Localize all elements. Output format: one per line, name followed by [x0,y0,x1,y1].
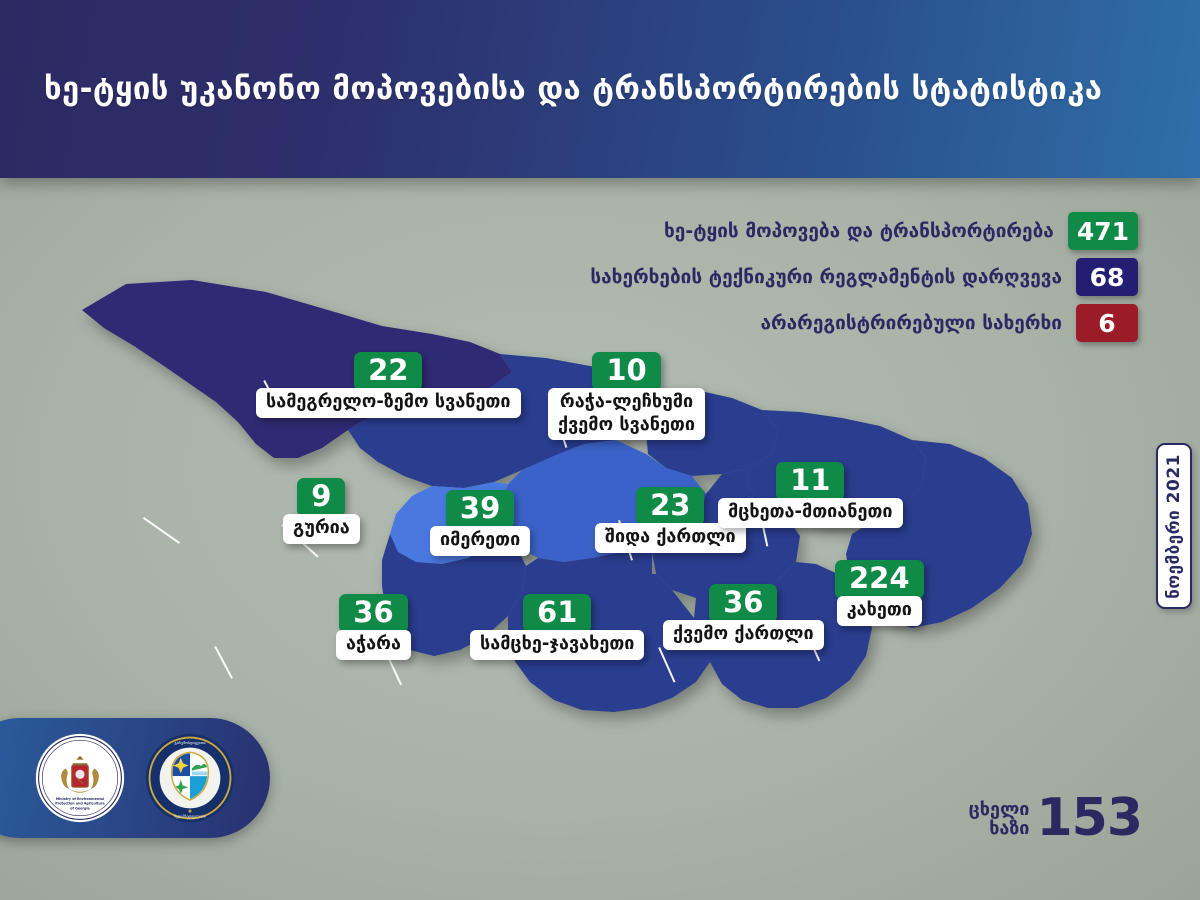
svg-text:of Georgia: of Georgia [70,806,89,810]
hotline-line1: ცხელი [969,800,1030,819]
infographic-canvas: ხე-ტყის უკანონო მოპოვებისა და ტრანსპორტი… [0,0,1200,900]
supervision-department-emblem-icon: გარემოსდაცვითი ზედამხედველობა [144,732,236,824]
marker-label: რაჭა-ლეჩხუმი ქვემო სვანეთი [548,388,705,440]
page-title: ხე-ტყის უკანონო მოპოვებისა და ტრანსპორტი… [44,71,1102,107]
hotline-line2: ხაზი [969,819,1030,838]
map-marker-racha-lechkhumi[interactable]: 10 რაჭა-ლეჩხუმი ქვემო სვანეთი [548,352,705,440]
marker-label: მცხეთა-მთიანეთი [718,498,903,528]
map-marker-adjara[interactable]: 36 აჭარა [336,594,411,660]
legend-row: ხე-ტყის მოპოვება და ტრანსპორტირება 471 [664,212,1138,250]
marker-count: 11 [776,462,844,501]
marker-count: 10 [592,352,660,391]
marker-count: 23 [636,487,704,526]
legend-badge-total: 471 [1068,212,1138,250]
map-marker-samtskhe-javakheti[interactable]: 61 სამცხე-ჯავახეთი [470,594,644,660]
ministry-emblem-icon: Ministry of Environmental Protection and… [34,732,126,824]
legend-badge-total: 68 [1076,258,1138,296]
map-marker-kakheti[interactable]: 224 კახეთი [835,560,924,626]
footer-logo-bar: Ministry of Environmental Protection and… [0,718,270,838]
georgia-region-map [60,262,1070,762]
date-tab: ნოემბერი 2021 [1156,443,1192,609]
marker-count: 39 [446,490,514,529]
hotline-words: ცხელი ხაზი [969,800,1030,838]
map-svg [60,262,1070,762]
marker-count: 36 [709,584,777,623]
marker-label: ქვემო ქართლი [663,620,824,650]
map-marker-mtskheta-mtianeti[interactable]: 11 მცხეთა-მთიანეთი [718,462,903,528]
header-banner: ხე-ტყის უკანონო მოპოვებისა და ტრანსპორტი… [0,0,1200,178]
marker-label: სამეგრელო-ზემო სვანეთი [256,388,521,418]
marker-label: სამცხე-ჯავახეთი [470,630,644,660]
hotline-number: 153 [1036,795,1142,842]
svg-text:გარემოსდაცვითი: გარემოსდაცვითი [174,741,205,745]
marker-count: 224 [835,560,924,599]
svg-text:ზედამხედველობა: ზედამხედველობა [174,815,206,819]
svg-text:Protection and Agriculture: Protection and Agriculture [55,802,105,806]
legend-badge-total: 6 [1076,304,1138,342]
legend-label: ხე-ტყის მოპოვება და ტრანსპორტირება [664,220,1054,242]
marker-count: 22 [354,352,422,391]
map-marker-imereti[interactable]: 39 იმერეთი [430,490,530,556]
marker-label: აჭარა [336,630,411,660]
marker-label: კახეთი [837,596,922,626]
marker-label: იმერეთი [430,526,530,556]
marker-label: გურია [283,514,360,544]
map-marker-kvemo-kartli[interactable]: 36 ქვემო ქართლი [663,584,824,650]
marker-count: 9 [297,478,345,517]
marker-count: 36 [339,594,407,633]
hotline-block: ცხელი ხაზი 153 [969,795,1142,842]
map-marker-samegrelo-zemo-svaneti[interactable]: 22 სამეგრელო-ზემო სვანეთი [256,352,521,418]
marker-count: 61 [523,594,591,633]
date-label: ნოემბერი 2021 [1164,454,1184,599]
map-marker-guria[interactable]: 9 გურია [283,478,360,544]
svg-text:Ministry of Environmental: Ministry of Environmental [56,797,104,801]
